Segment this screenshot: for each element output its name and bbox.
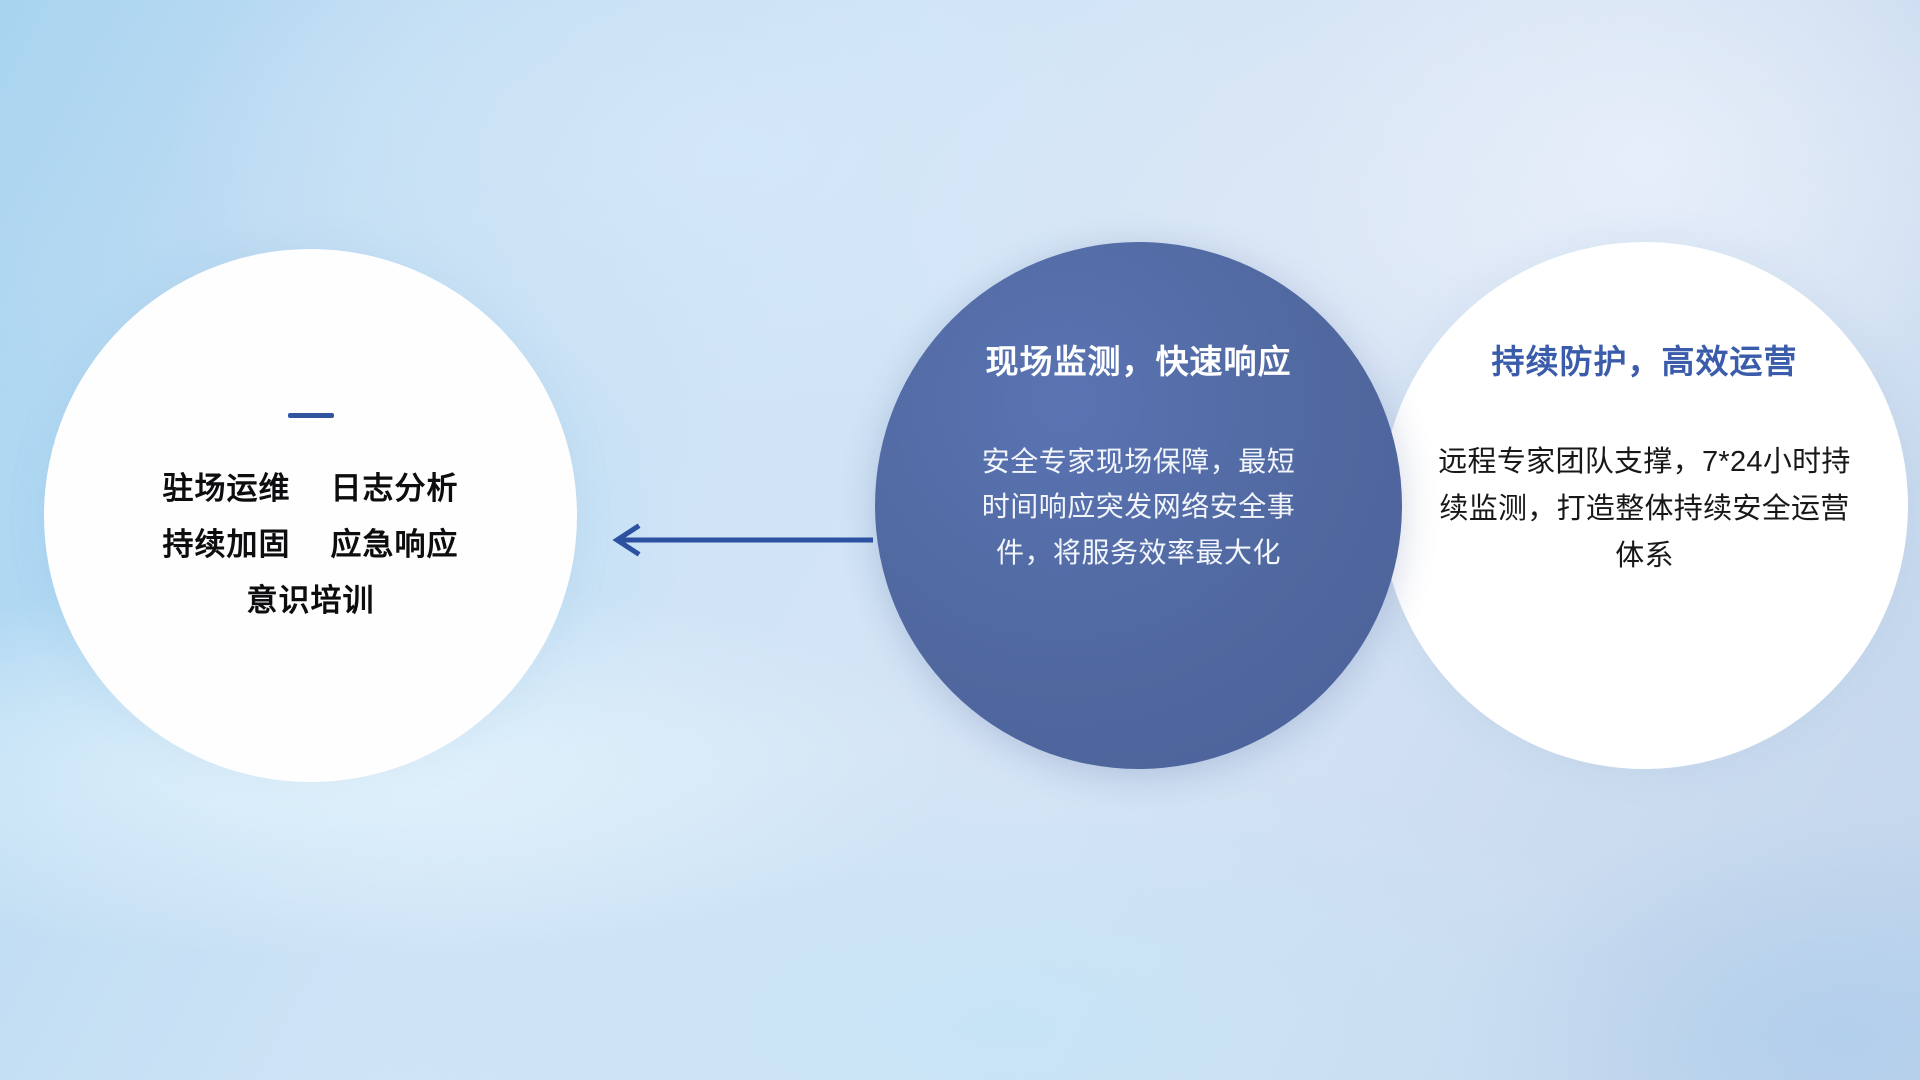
capability-row: 驻场运维 日志分析 [163,472,459,506]
diagram-canvas: 驻场运维 日志分析 持续加固 应急响应 意识培训 持续防护，高效运营 远程专家团… [0,0,1920,1080]
divider-dash [288,413,334,418]
left-capability-circle: 驻场运维 日志分析 持续加固 应急响应 意识培训 [44,249,577,782]
capability-item: 日志分析 [331,472,459,506]
middle-monitoring-circle: 现场监测，快速响应 安全专家现场保障，最短时间响应突发网络安全事件，将服务效率最… [875,242,1402,769]
capability-row: 意识培训 [247,584,375,618]
middle-circle-title: 现场监测，快速响应 [986,335,1292,383]
right-operations-circle: 持续防护，高效运营 远程专家团队支撑，7*24小时持续监测，打造整体持续安全运营… [1381,242,1908,769]
capability-row: 持续加固 应急响应 [163,528,459,562]
arrow-left-icon [603,523,875,557]
capability-item: 意识培训 [247,584,375,618]
capability-list: 驻场运维 日志分析 持续加固 应急响应 意识培训 [163,472,459,618]
flow-arrow-left [603,523,875,557]
capability-item: 持续加固 [163,528,291,562]
capability-item: 应急响应 [331,528,459,562]
right-circle-body: 远程专家团队支撑，7*24小时持续监测，打造整体持续安全运营体系 [1435,439,1855,580]
middle-circle-body: 安全专家现场保障，最短时间响应突发网络安全事件，将服务效率最大化 [974,439,1304,575]
right-circle-title: 持续防护，高效运营 [1492,335,1798,383]
capability-item: 驻场运维 [163,472,291,506]
